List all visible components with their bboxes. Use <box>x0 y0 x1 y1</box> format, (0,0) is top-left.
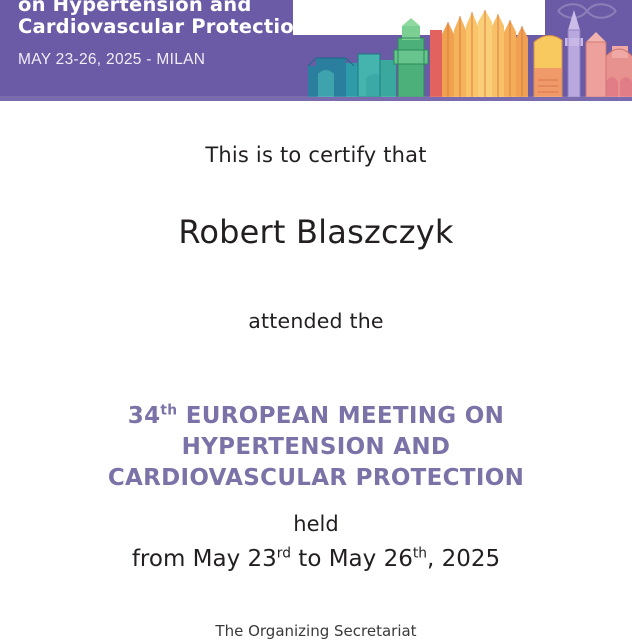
event-dates: from May 23rd to May 26th, 2025 <box>0 546 632 572</box>
organizing-secretariat-label: The Organizing Secretariat <box>0 622 632 640</box>
banner-title-line-1: on Hypertension and <box>18 0 308 16</box>
dates-start-suffix: rd <box>277 545 291 561</box>
attended-statement: attended the <box>0 309 632 333</box>
banner-event-title: on Hypertension and Cardiovascular Prote… <box>18 0 308 38</box>
dates-end-suffix: th <box>413 545 427 561</box>
certificate-body: This is to certify that Robert Blaszczyk… <box>0 101 632 640</box>
dates-year: , 2025 <box>427 546 500 572</box>
skyline-red-sliver <box>430 30 442 97</box>
skyline-duomo <box>442 10 528 97</box>
meeting-title-line-3: CARDIOVASCULAR PROTECTION <box>0 463 632 494</box>
banner-date-location: MAY 23-26, 2025 - MILAN <box>18 51 205 69</box>
milan-skyline-illustration <box>306 8 632 97</box>
skyline-yellow-building <box>534 35 562 97</box>
dates-middle: to May 26 <box>291 546 413 572</box>
skyline-green-tower <box>394 18 428 97</box>
skyline-pink-buildings <box>586 32 632 97</box>
skyline-lavender-tower <box>565 10 583 97</box>
certify-statement: This is to certify that <box>0 143 632 167</box>
dates-prefix: from May 23 <box>132 546 277 572</box>
banner-title-line-2: Cardiovascular Protection <box>18 16 308 38</box>
skyline-arch-building <box>308 54 396 97</box>
meeting-ordinal-number: 34 <box>128 403 161 429</box>
held-label: held <box>0 512 632 536</box>
header-banner: on Hypertension and Cardiovascular Prote… <box>0 0 632 101</box>
meeting-title: 34th EUROPEAN MEETING ON HYPERTENSION AN… <box>0 401 632 494</box>
recipient-name: Robert Blaszczyk <box>0 213 632 251</box>
meeting-title-line-1: 34th EUROPEAN MEETING ON <box>0 401 632 432</box>
meeting-ordinal-suffix: th <box>160 402 177 418</box>
meeting-title-line-2: HYPERTENSION AND <box>0 432 632 463</box>
meeting-title-line-1-rest: EUROPEAN MEETING ON <box>177 403 504 429</box>
